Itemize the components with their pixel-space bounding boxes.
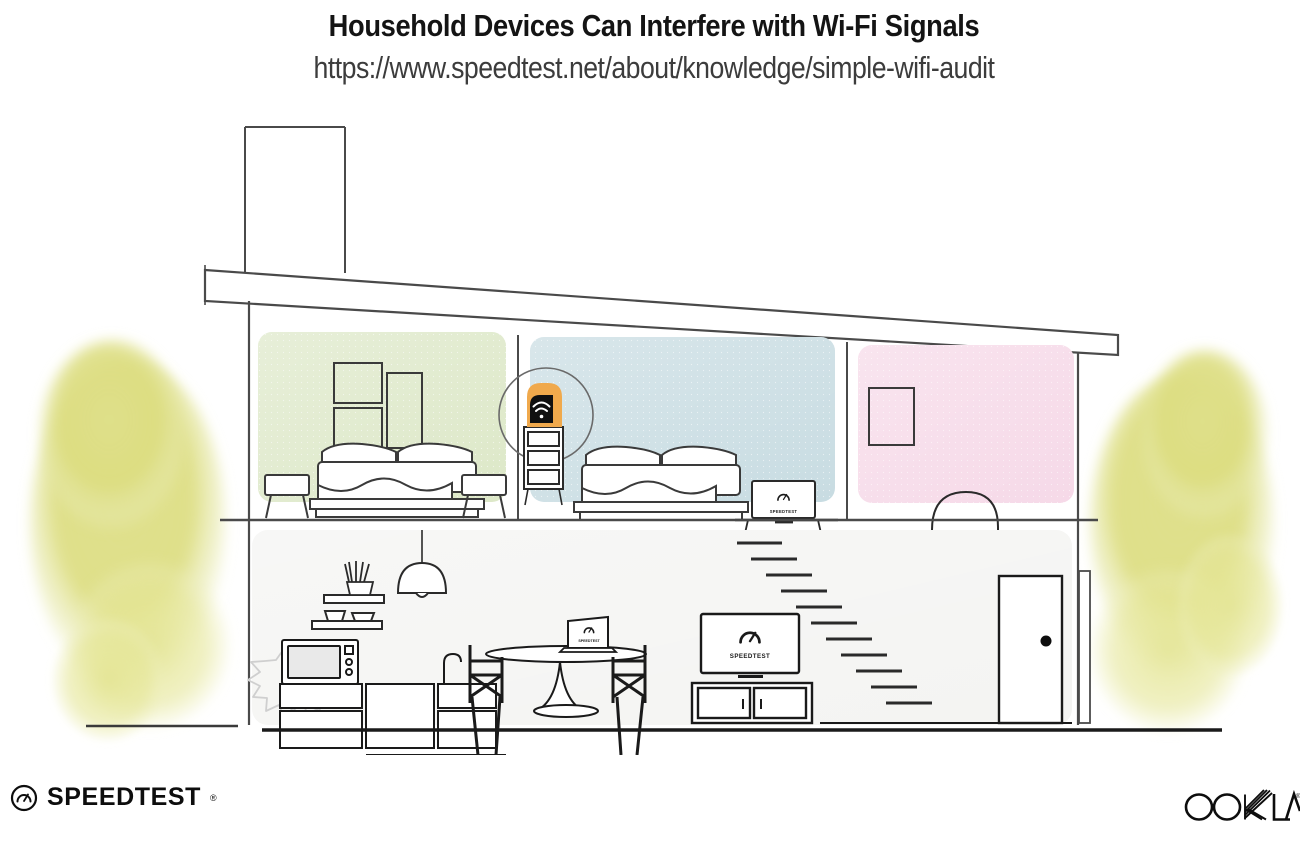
speedtest-logo: SPEEDTEST ® — [10, 783, 217, 812]
ookla-k-glyph — [1245, 790, 1272, 820]
bed-blue-room — [574, 447, 748, 520]
kitchen-counter — [280, 684, 496, 748]
entry-door — [999, 576, 1062, 723]
header: Household Devices Can Interfere with Wi-… — [0, 0, 1308, 86]
laptop-screen-label: SPEEDTEST — [578, 639, 600, 643]
ground-lines — [86, 726, 1222, 730]
speedtest-wordmark: SPEEDTEST — [47, 783, 201, 812]
page-title: Household Devices Can Interfere with Wi-… — [78, 0, 1229, 44]
monitor: SPEEDTEST — [752, 481, 815, 523]
media-console — [692, 683, 812, 723]
laptop: SPEEDTEST — [560, 617, 616, 652]
room-nursery-pink — [858, 345, 1074, 503]
speedtest-trademark: ® — [210, 793, 217, 803]
right-wall-strip — [1079, 571, 1090, 723]
tv-screen-label: SPEEDTEST — [730, 653, 770, 660]
wifi-router — [527, 383, 562, 427]
foliage-left — [30, 340, 228, 740]
infographic-root: Household Devices Can Interfere with Wi-… — [0, 0, 1308, 861]
source-url: https://www.speedtest.net/about/knowledg… — [92, 44, 1217, 86]
microwave — [282, 640, 358, 684]
foliage-right — [1090, 350, 1282, 730]
bed-green-room — [310, 444, 484, 517]
monitor-screen-label: SPEEDTEST — [770, 509, 798, 514]
speedtest-gauge-icon — [10, 784, 38, 812]
tv: SPEEDTEST — [701, 614, 799, 678]
kitchen-shelf-upper — [324, 595, 384, 603]
footer: SPEEDTEST ® ® — [0, 761, 1308, 861]
house-illustration: SPEEDTEST — [0, 105, 1308, 755]
ookla-trademark: ® — [1296, 793, 1300, 800]
chimney — [245, 127, 345, 273]
ookla-logo: ® — [1182, 787, 1300, 832]
